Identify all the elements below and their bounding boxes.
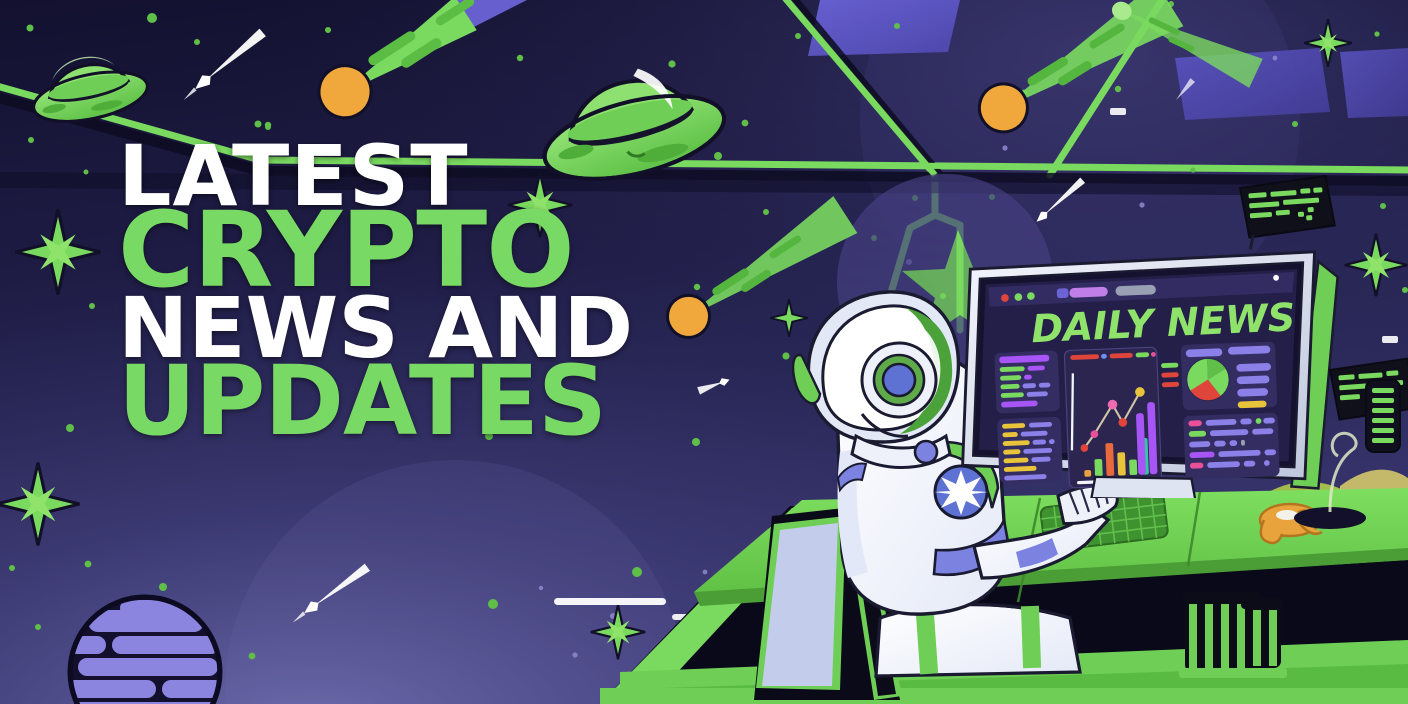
banner-root: LATEST CRYPTO NEWS AND UPDATES	[0, 0, 1408, 704]
terminal-panels	[0, 0, 1408, 704]
terminal-panel-top-right[interactable]	[1240, 176, 1337, 250]
side-module-right	[1366, 380, 1400, 452]
notch-indicator	[1382, 336, 1398, 343]
